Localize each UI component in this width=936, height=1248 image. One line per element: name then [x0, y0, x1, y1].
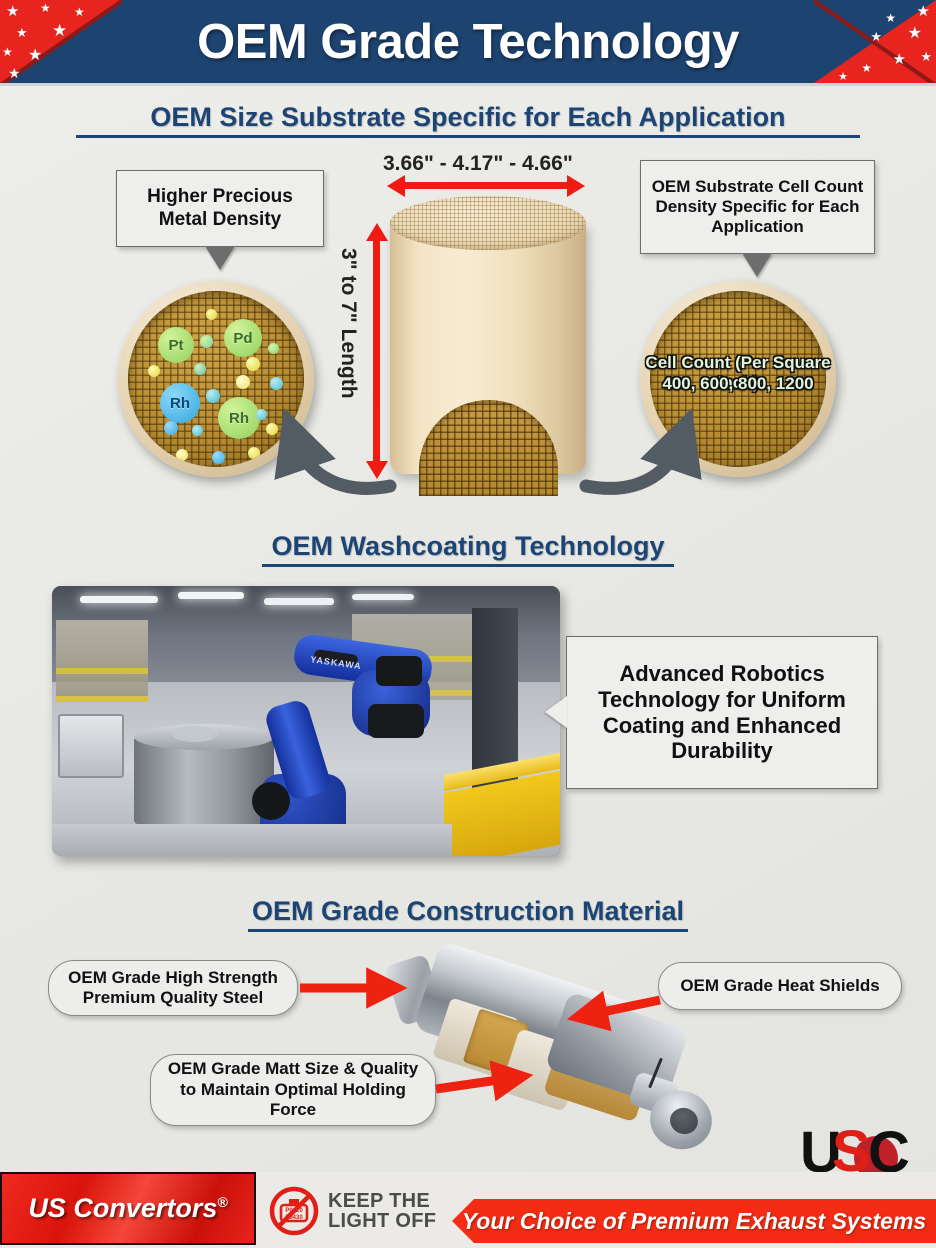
infographic-page: ★ ★ ★ ★ ★ ★ ★ ★ OEM Grade Technology ★ ★…	[0, 0, 936, 1248]
cell-count-values: 400, 600, 800, 1200	[640, 374, 836, 394]
particle-pd: Pd	[224, 319, 262, 357]
keep-light-line-2: LIGHT OFF	[328, 1211, 436, 1231]
substrate-cutaway	[419, 400, 558, 496]
company-name: US Convertors	[28, 1193, 217, 1223]
page-title: OEM Grade Technology	[0, 0, 936, 83]
section-rule-substrate	[76, 135, 860, 138]
section-rule-construction	[248, 929, 688, 932]
tagline-banner: Your Choice of Premium Exhaust Systems	[452, 1199, 936, 1243]
substrate-length-label: 3" to 7" Length	[336, 248, 360, 399]
substrate-diameter-label: 3.66" - 4.17" - 4.66"	[383, 152, 573, 176]
keep-the-light-off-badge: P0420 P0430 KEEP THE LIGHT OFF	[268, 1185, 436, 1237]
callout-matt-holding-force: OEM Grade Matt Size & Quality to Maintai…	[150, 1054, 436, 1126]
callout-heat-shields: OEM Grade Heat Shields	[658, 962, 902, 1010]
magnifier-precious-metal: Pt Pd Rh Rh	[118, 281, 314, 477]
registered-mark: ®	[217, 1194, 227, 1210]
length-arrow	[373, 240, 380, 462]
keep-light-line-1: KEEP THE	[328, 1191, 436, 1211]
callout-advanced-robotics: Advanced Robotics Technology for Uniform…	[566, 636, 878, 789]
section-rule-washcoating	[262, 564, 674, 567]
section-title-washcoating: OEM Washcoating Technology	[0, 531, 936, 562]
callout-oem-substrate-cell-count: OEM Substrate Cell Count Density Specifi…	[640, 160, 875, 254]
section-title-construction: OEM Grade Construction Material	[0, 896, 936, 927]
callout-higher-precious-metal-density: Higher Precious Metal Density	[116, 170, 324, 247]
header-underline	[0, 83, 936, 86]
magnifier-cell-count: Cell Count (Per Square Inch) 400, 600, 8…	[640, 281, 836, 477]
page-header: ★ ★ ★ ★ ★ ★ ★ ★ OEM Grade Technology ★ ★…	[0, 0, 936, 83]
us-convertors-logo: US Convertors®	[0, 1172, 256, 1245]
particle-rh-blue: Rh	[160, 383, 200, 423]
diameter-arrow	[404, 182, 568, 189]
callout-tail-right	[742, 253, 772, 277]
callout-tail-left	[205, 246, 235, 270]
substrate-cylinder	[390, 196, 586, 496]
particle-rh-green: Rh	[218, 397, 260, 439]
section-title-substrate: OEM Size Substrate Specific for Each App…	[0, 102, 936, 133]
washcoating-robot-photo: YASKAWA	[52, 586, 560, 856]
callout-premium-steel: OEM Grade High Strength Premium Quality …	[48, 960, 298, 1016]
no-check-engine-light-icon: P0420 P0430	[268, 1185, 320, 1237]
callout-tail-robotics	[545, 696, 567, 728]
particle-pt: Pt	[158, 327, 194, 363]
